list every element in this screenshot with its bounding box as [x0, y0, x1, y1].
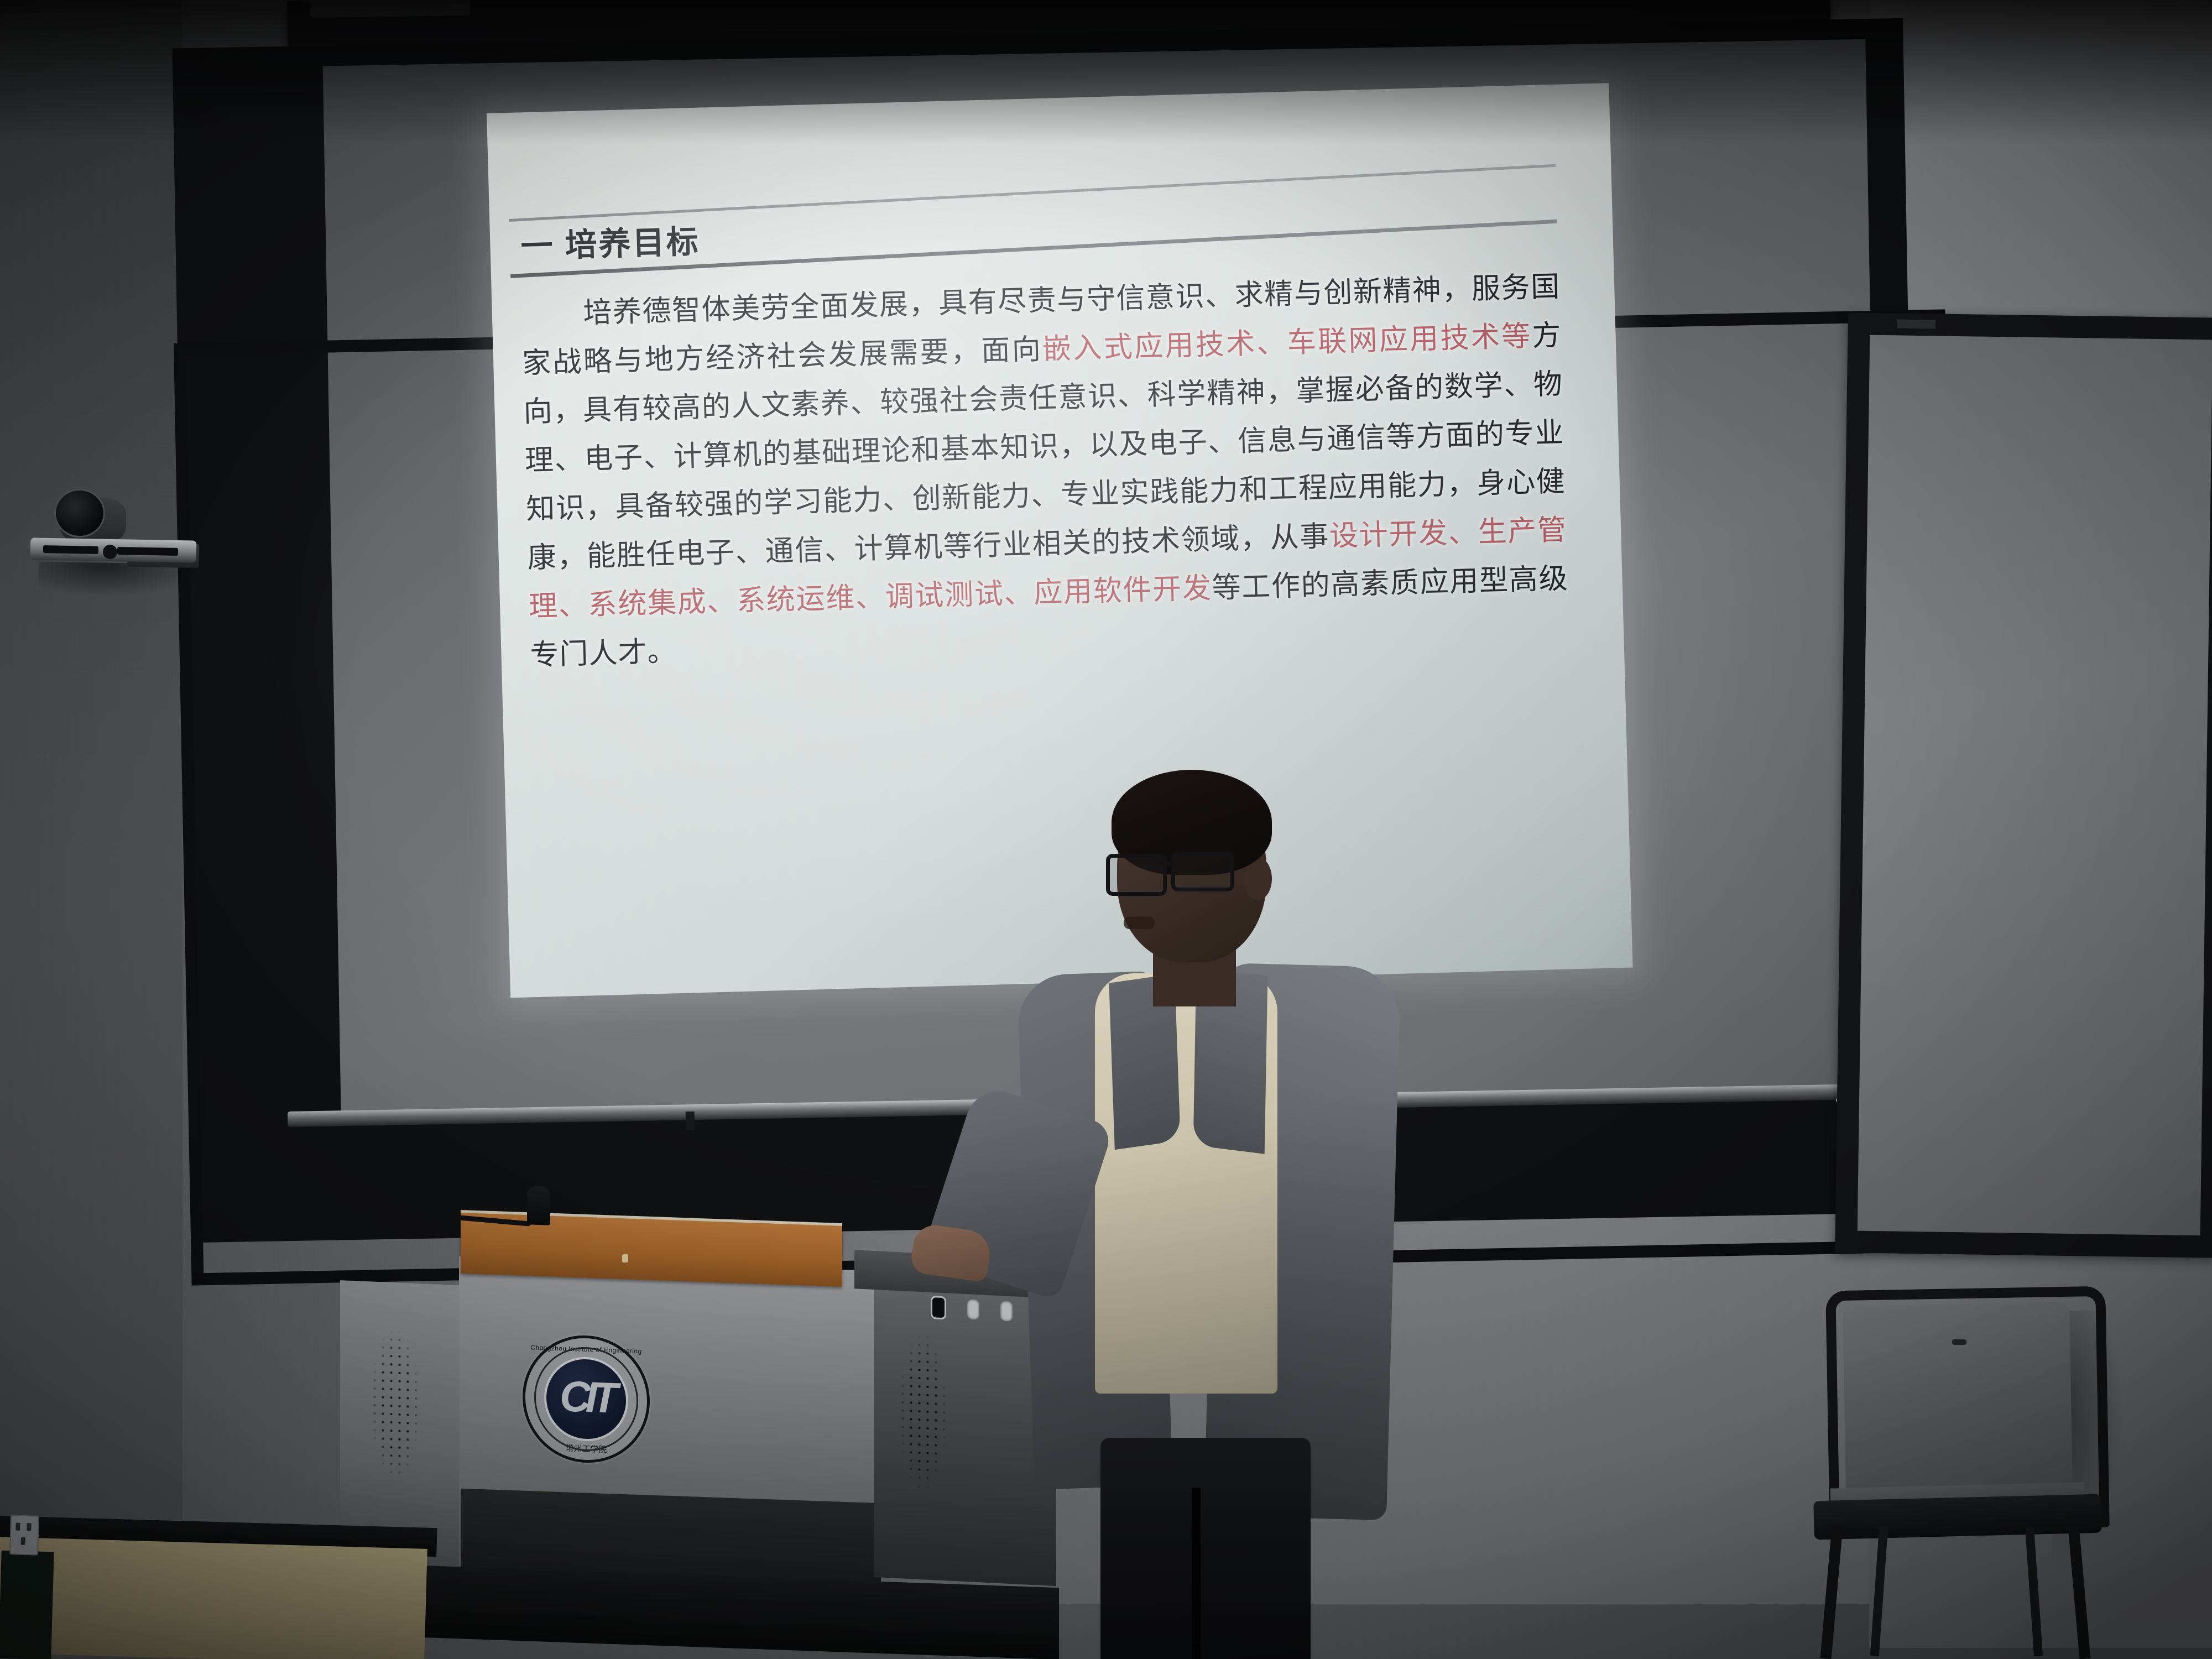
podium: Changzhou Institute of Engineering 常州工学院…	[340, 1244, 1136, 1642]
outlet-slot-1	[15, 1523, 20, 1531]
chair-leg-front-left	[1820, 1526, 1843, 1659]
folding-chair	[1814, 1288, 2112, 1659]
logo-outer-ring: Changzhou Institute of Engineering 常州工学院…	[523, 1333, 650, 1465]
desk-corner	[0, 1551, 54, 1659]
presenter-leg-split	[1192, 1488, 1201, 1659]
chair-seat-frame	[1813, 1494, 2102, 1540]
logo-monogram: CIT	[546, 1370, 626, 1423]
camera-bracket-slot-left	[43, 545, 98, 554]
podium-port-2[interactable]	[967, 1299, 979, 1319]
podium-speaker-grille-left	[371, 1326, 420, 1483]
microphone-icon[interactable]	[527, 1186, 550, 1225]
podium-port-3[interactable]	[1000, 1301, 1013, 1321]
chair-leg-back-right	[2025, 1526, 2043, 1657]
outlet-slot-3	[20, 1537, 25, 1545]
slide-body: 培养德智体美劳全面发展，具有尽责与守信意识、求精与创新精神，服务国家战略与地方经…	[520, 263, 1570, 680]
glasses-icon	[1106, 852, 1236, 891]
presenter-mouth	[1124, 917, 1155, 929]
paragraph-indent	[521, 322, 583, 324]
screen-pull-hook[interactable]	[686, 1112, 695, 1130]
wall-left	[0, 0, 188, 1526]
university-logo: Changzhou Institute of Engineering 常州工学院…	[523, 1333, 650, 1465]
glasses-lens-right	[1171, 852, 1234, 891]
outlet-slot-2	[27, 1523, 31, 1531]
screen-housing-cap	[309, 0, 470, 18]
camera-bracket-slot-right	[117, 547, 178, 556]
podium-screw	[622, 1254, 628, 1262]
chair-leg-back-left	[1870, 1526, 1888, 1657]
podium-port-1[interactable]	[931, 1296, 946, 1319]
whiteboard-clip	[1897, 320, 1936, 329]
desk-surface	[0, 1537, 427, 1659]
lecture-room: 一 培养目标 培养德智体美劳全面发展，具有尽责与守信意识、求精与创新精神，服务国…	[0, 0, 2212, 1659]
presenter-legs	[1100, 1438, 1311, 1659]
slide-run-2-highlight: 嵌入式应用技术、车联网应用技术等	[1042, 320, 1532, 366]
podium-speaker-grille-right	[899, 1332, 947, 1494]
wall-outlet-icon[interactable]	[9, 1515, 39, 1555]
glasses-lens-left	[1106, 854, 1167, 896]
presenter	[1029, 774, 1471, 1659]
whiteboard-surface[interactable]	[1858, 335, 2212, 1235]
chair-rivet	[1952, 1339, 1966, 1345]
